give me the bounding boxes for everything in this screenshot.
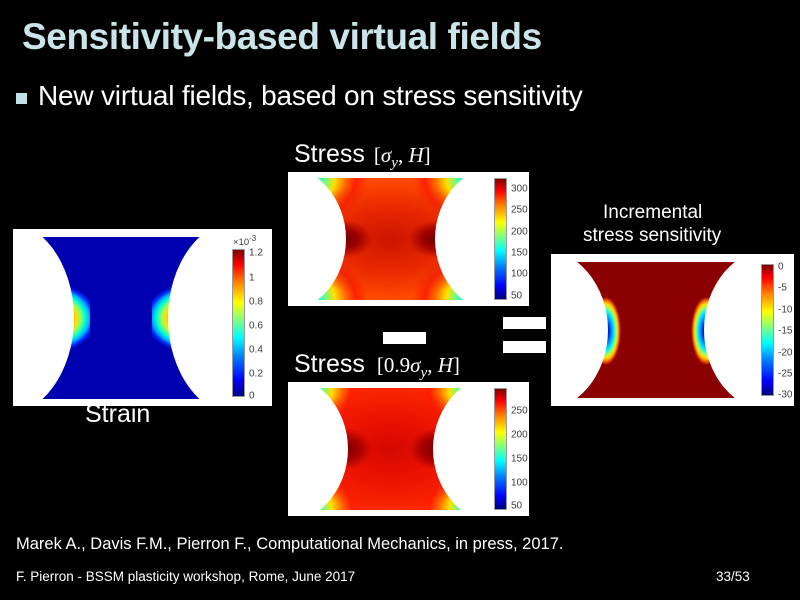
page-title: Sensitivity-based virtual fields <box>22 18 782 57</box>
stress-top-colorbar-ticks: 300 250 200 150 100 50 <box>511 178 528 300</box>
stress-bottom-caption: Stress[0.9σy, H] <box>294 350 460 382</box>
citation-text: Marek A., Davis F.M., Pierron F., Comput… <box>16 535 563 554</box>
strain-caption: Strain <box>85 400 150 429</box>
stress-top-figure-panel: 300 250 200 150 100 50 <box>288 172 529 306</box>
notch-right <box>435 178 489 300</box>
stress-top-field-image <box>292 178 489 300</box>
notch-left <box>292 178 346 300</box>
footer-left-text: F. Pierron - BSSM plasticity workshop, R… <box>16 569 355 584</box>
notch-left <box>556 262 608 398</box>
stress-top-caption: Stress[σy, H] <box>294 140 431 172</box>
sensitivity-specimen <box>556 262 756 398</box>
stress-bottom-caption-main: Stress <box>294 350 365 378</box>
bullet-square-icon <box>16 93 27 104</box>
stress-bottom-colorbar-gradient <box>494 388 507 510</box>
notch-left <box>18 237 74 399</box>
sensitivity-colorbar-ticks: 0 -5 -10 -15 -20 -25 -30 <box>778 264 793 396</box>
stress-top-caption-main: Stress <box>294 140 365 168</box>
stress-bottom-specimen <box>292 388 489 510</box>
strain-colorbar-exponent: ×10-3 <box>233 234 256 248</box>
strain-colorbar-gradient <box>232 249 245 397</box>
strain-field-image <box>18 237 224 399</box>
bullet-text: New virtual fields, based on stress sens… <box>38 80 583 112</box>
sensitivity-figure-panel: 0 -5 -10 -15 -20 -25 -30 <box>551 254 794 406</box>
stress-top-colorbar: 300 250 200 150 100 50 <box>494 178 528 300</box>
footer-page-number: 33/53 <box>716 569 750 584</box>
stress-top-specimen <box>292 178 489 300</box>
strain-specimen <box>18 237 224 399</box>
stress-bottom-colorbar-ticks: 250 200 150 100 50 <box>511 388 528 510</box>
sensitivity-caption-line2: stress sensitivity <box>583 225 721 247</box>
notch-right <box>704 262 756 398</box>
equals-operator-icon-bar-bottom <box>503 341 546 353</box>
equals-operator-icon-bar-top <box>503 317 546 329</box>
strain-colorbar: 1.2 1 0.8 0.6 0.4 0.2 0 <box>232 249 270 397</box>
strain-colorbar-ticks: 1.2 1 0.8 0.6 0.4 0.2 0 <box>249 249 270 397</box>
strain-figure-panel: 1.2 1 0.8 0.6 0.4 0.2 0 ×10-3 <box>13 229 272 406</box>
bullet-row: New virtual fields, based on stress sens… <box>16 80 786 112</box>
stress-top-colorbar-gradient <box>494 178 507 300</box>
sensitivity-colorbar: 0 -5 -10 -15 -20 -25 -30 <box>761 264 793 396</box>
stress-bottom-colorbar: 250 200 150 100 50 <box>494 388 528 510</box>
notch-right <box>168 237 224 399</box>
minus-operator-icon <box>383 332 426 344</box>
stress-bottom-field-image <box>292 388 489 510</box>
stress-bottom-figure-panel: 250 200 150 100 50 <box>288 382 529 516</box>
sensitivity-caption-line1: Incremental <box>603 202 702 224</box>
notch-left <box>292 388 348 510</box>
notch-right <box>433 388 489 510</box>
sensitivity-colorbar-gradient <box>761 264 774 396</box>
sensitivity-field-image <box>556 262 756 398</box>
